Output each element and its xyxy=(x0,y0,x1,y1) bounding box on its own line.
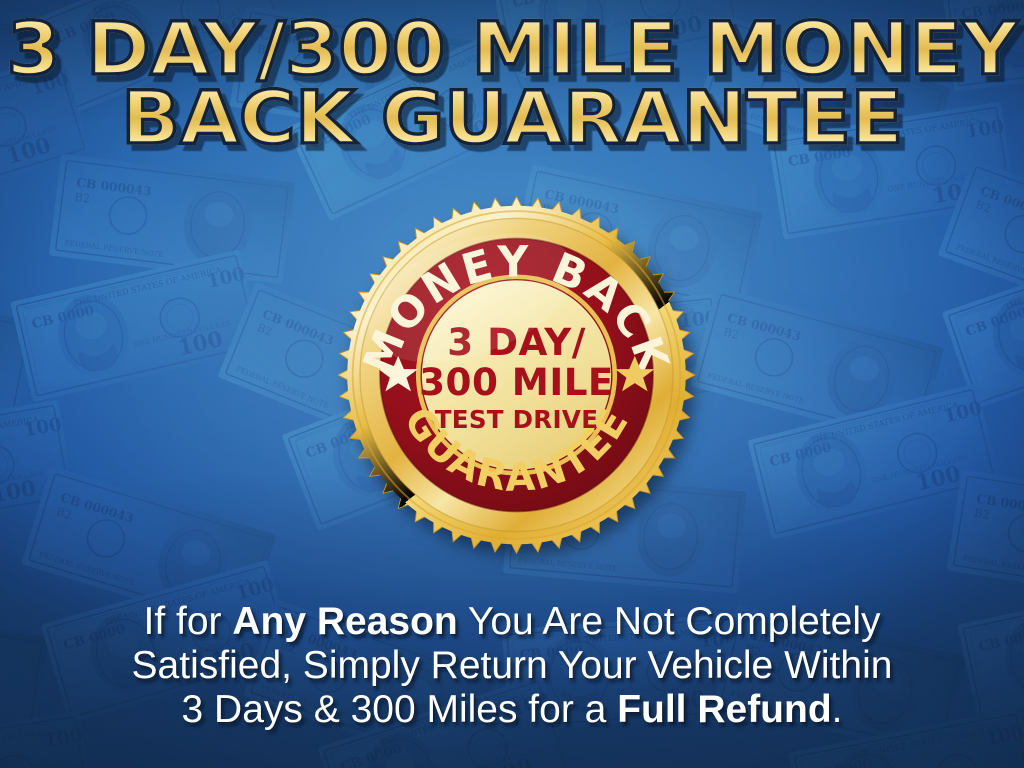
seal-center-line-2: 300 MILE xyxy=(419,360,614,404)
money-back-guarantee-seal: MONEY BACK GUARANTEE 3 DAY/ 300 MILE TES… xyxy=(333,193,700,557)
poster-canvas: 100 CB 0000 100 THE UNITED STATES OF AME… xyxy=(0,0,1024,768)
seal-center-line-3: TEST DRIVE xyxy=(435,405,599,434)
